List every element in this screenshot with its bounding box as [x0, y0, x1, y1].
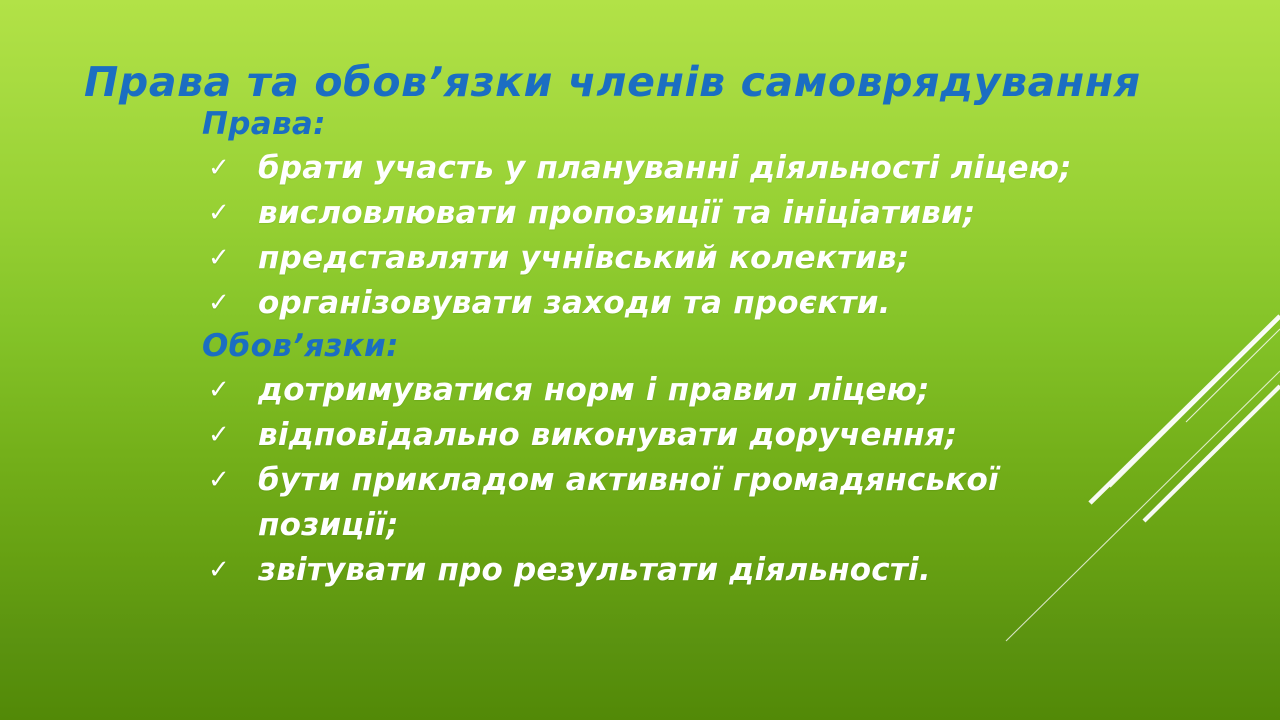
checkmark-icon: ✓ [208, 236, 238, 281]
list-item-label: бути прикладом активної громадянської по… [258, 458, 1096, 548]
list-item: ✓ звітувати про результати діяльності. [196, 548, 1096, 593]
slide-body: Права: ✓ брати участь у плануванні діяль… [196, 104, 1096, 593]
section-rights: Права: ✓ брати участь у плануванні діяль… [196, 104, 1096, 326]
list-item-label: звітувати про результати діяльності. [258, 548, 1096, 593]
list-item: ✓ дотримуватися норм і правил ліцею; [196, 368, 1096, 413]
duties-list: ✓ дотримуватися норм і правил ліцею; ✓ в… [196, 368, 1096, 593]
list-item-label: висловлювати пропозиції та ініціативи; [258, 191, 1096, 236]
checkmark-icon: ✓ [208, 146, 238, 191]
list-item-label: представляти учнівський колектив; [258, 236, 1096, 281]
list-item-label: брати участь у плануванні діяльності ліц… [258, 146, 1096, 191]
list-item: ✓ брати участь у плануванні діяльності л… [196, 146, 1096, 191]
section-heading-duties: Обов’язки: [196, 326, 1096, 366]
checkmark-icon: ✓ [208, 191, 238, 236]
presentation-slide: Права та обов’язки членів самоврядування… [0, 0, 1280, 720]
list-item: ✓ бути прикладом активної громадянської … [196, 458, 1096, 548]
checkmark-icon: ✓ [208, 368, 238, 413]
list-item: ✓ висловлювати пропозиції та ініціативи; [196, 191, 1096, 236]
checkmark-icon: ✓ [208, 548, 238, 593]
page-title: Права та обов’язки членів самоврядування [84, 60, 1204, 105]
section-duties: Обов’язки: ✓ дотримуватися норм і правил… [196, 326, 1096, 593]
list-item: ✓ організовувати заходи та проєкти. [196, 281, 1096, 326]
list-item: ✓ представляти учнівський колектив; [196, 236, 1096, 281]
list-item: ✓ відповідально виконувати доручення; [196, 413, 1096, 458]
list-item-label: організовувати заходи та проєкти. [258, 281, 1096, 326]
section-heading-rights: Права: [196, 104, 1096, 144]
list-item-label: відповідально виконувати доручення; [258, 413, 1096, 458]
checkmark-icon: ✓ [208, 413, 238, 458]
checkmark-icon: ✓ [208, 281, 238, 326]
checkmark-icon: ✓ [208, 458, 238, 503]
rights-list: ✓ брати участь у плануванні діяльності л… [196, 146, 1096, 326]
list-item-label: дотримуватися норм і правил ліцею; [258, 368, 1096, 413]
